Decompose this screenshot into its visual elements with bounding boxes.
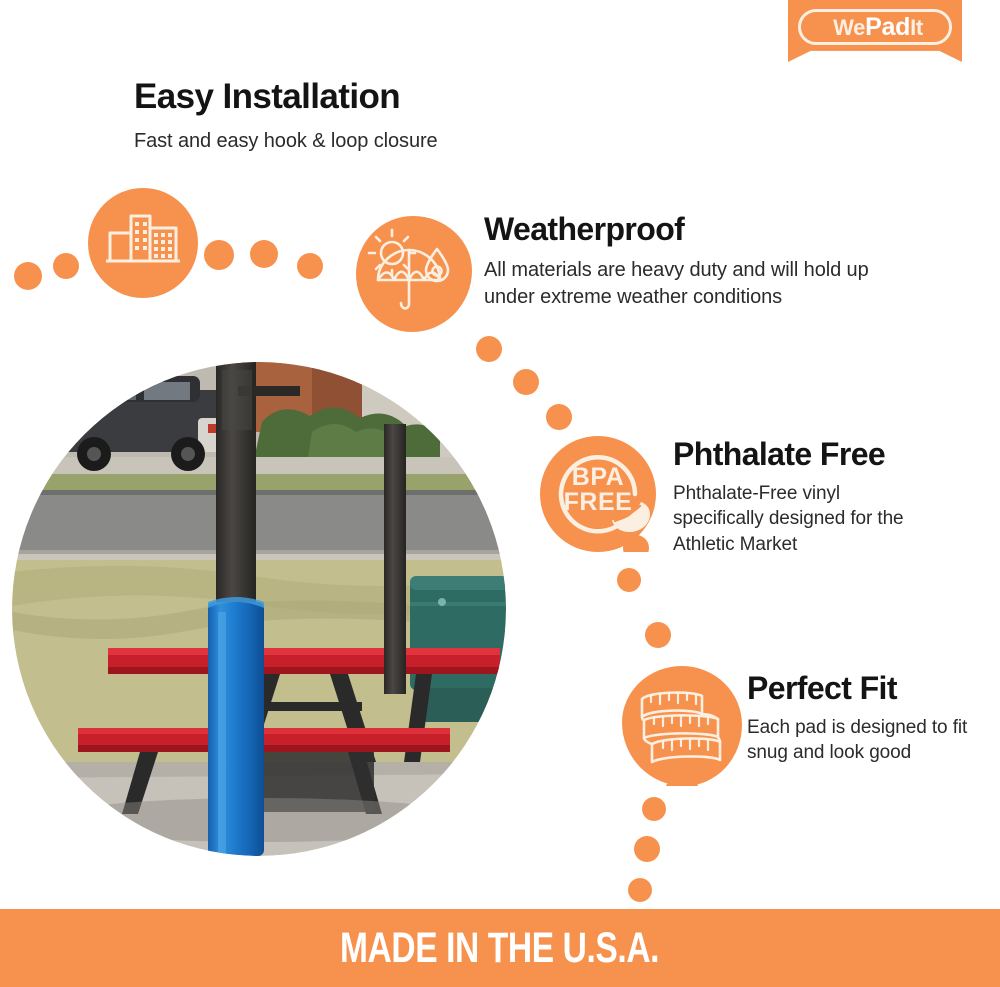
path-dot (250, 240, 278, 268)
feature-description-perfect-fit: Each pad is designed to fit snug and loo… (747, 715, 972, 766)
path-dot (645, 622, 671, 648)
feature-text-weatherproof: Weatherproof All materials are heavy dut… (484, 212, 884, 310)
feature-icon-badge-phthalate-free: BPA FREE (540, 436, 656, 552)
product-photo-pole-pad (12, 362, 506, 856)
path-dot (617, 568, 641, 592)
path-dot (642, 797, 666, 821)
feature-icon-badge-weatherproof (356, 216, 472, 332)
feature-description-weatherproof: All materials are heavy duty and will ho… (484, 257, 884, 310)
feature-text-easy-installation: Easy Installation Fast and easy hook & l… (134, 78, 438, 154)
feature-title-phthalate-free: Phthalate Free (673, 437, 931, 472)
path-dot (476, 336, 502, 362)
feature-text-phthalate-free: Phthalate Free Phthalate-Free vinyl spec… (673, 437, 931, 557)
measuring-tape-icon (622, 666, 742, 786)
logo-text: WePadIt (801, 12, 955, 42)
feature-title-easy-installation: Easy Installation (134, 78, 438, 117)
bpa-badge-line-1: BPA (540, 466, 656, 490)
logo-word-we: We (833, 15, 865, 40)
path-dot (14, 262, 42, 290)
logo-word-it: It (910, 15, 923, 40)
feature-title-perfect-fit: Perfect Fit (747, 671, 972, 706)
feature-description-phthalate-free: Phthalate-Free vinyl specifically design… (673, 481, 931, 557)
product-photo-illustration (12, 362, 506, 856)
path-dot (297, 253, 323, 279)
logo-word-pad: Pad (865, 13, 910, 41)
path-dot (513, 369, 539, 395)
feature-icon-badge-perfect-fit (622, 666, 742, 786)
made-in-usa-text: MADE IN THE U.S.A. (340, 924, 659, 973)
path-dot (53, 253, 79, 279)
feature-icon-badge-easy-installation (88, 188, 198, 298)
infographic-page: WePadIt Easy Installation Fast and easy … (0, 0, 1000, 987)
feature-title-weatherproof: Weatherproof (484, 212, 884, 247)
path-dot (634, 836, 660, 862)
feature-description-easy-installation: Fast and easy hook & loop closure (134, 128, 438, 155)
path-dot (546, 404, 572, 430)
building-icon (88, 188, 198, 298)
brand-logo-banner: WePadIt (788, 0, 962, 62)
logo-frame: WePadIt (798, 9, 952, 45)
feature-text-perfect-fit: Perfect Fit Each pad is designed to fit … (747, 671, 972, 766)
umbrella-sun-raindrop-icon (356, 216, 472, 332)
path-dot (628, 878, 652, 902)
bpa-badge-line-2: FREE (540, 491, 656, 515)
path-dot (204, 240, 234, 270)
made-in-usa-banner: MADE IN THE U.S.A. (0, 909, 1000, 987)
